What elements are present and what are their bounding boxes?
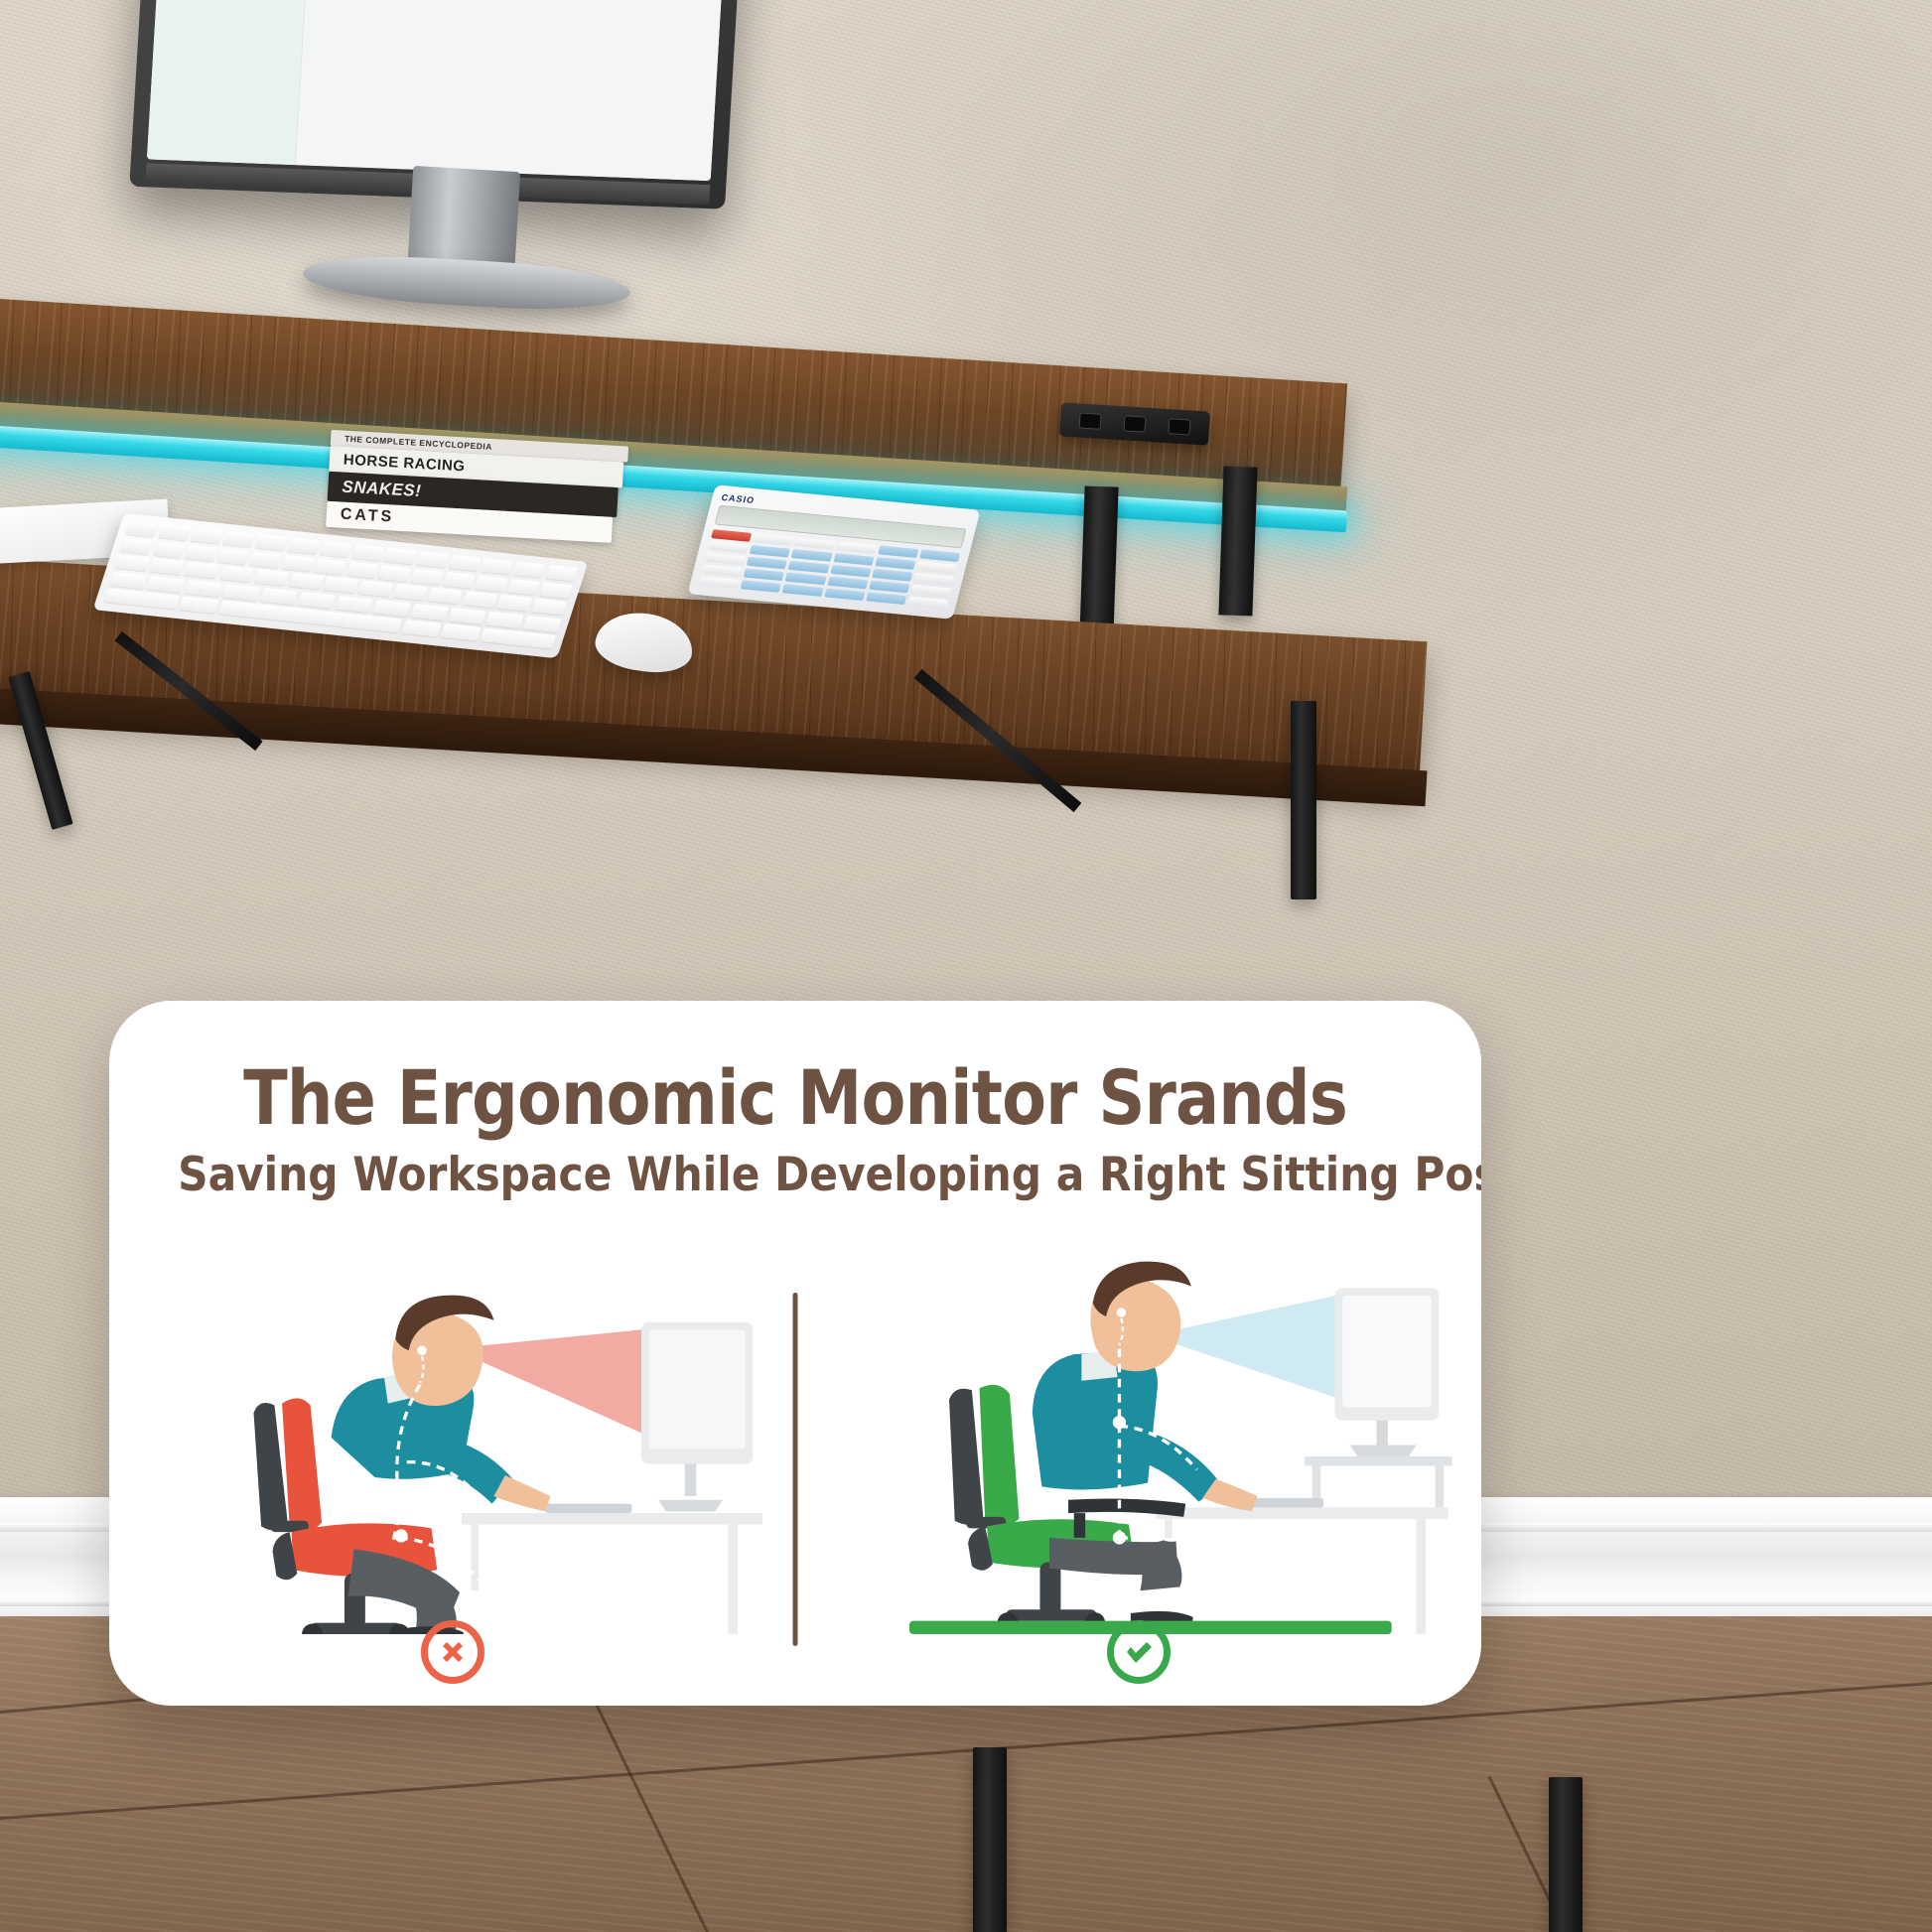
power-socket[interactable]	[1079, 413, 1102, 430]
book-title: HORSE RACING	[330, 450, 466, 475]
power-socket[interactable]	[1168, 418, 1190, 435]
info-card: The Ergonomic Monitor Srands Saving Work…	[109, 1001, 1481, 1706]
x-mark-icon	[436, 1635, 470, 1669]
monitor-stand-leg-far-right	[1218, 466, 1257, 616]
good-posture-panel	[795, 1237, 1481, 1706]
monitor: ● Community ? Help ⚙ Settings	[154, 0, 769, 258]
bad-posture-illustration	[109, 1237, 795, 1634]
good-posture-illustration	[795, 1237, 1481, 1634]
desk-leg-right	[1291, 701, 1316, 899]
product-marketing-image: THE COMPLETE ENCYCLOPEDIA HORSE RACING S…	[0, 0, 1932, 1932]
page-title: The Ergonomic Monitor Srands	[206, 1060, 1386, 1136]
power-socket[interactable]	[1124, 415, 1147, 432]
crypto-dashboard[interactable]: ● Community ? Help ⚙ Settings	[147, 0, 758, 181]
desk-leg-rear	[973, 1747, 1007, 1932]
comparison-panels	[109, 1237, 1481, 1706]
dashboard-right-panel[interactable]: Buy ETH Recent Transaction ••• ₳ Cardano…	[552, 0, 758, 181]
bad-posture-panel	[109, 1237, 795, 1706]
monitor-screen[interactable]: ● Community ? Help ⚙ Settings	[147, 0, 758, 181]
good-posture-badge	[1107, 1620, 1171, 1684]
monitor-stand-leg-right	[1079, 485, 1118, 637]
page-subtitle: Saving Workspace While Developing a Righ…	[178, 1152, 1413, 1198]
bad-posture-badge	[421, 1620, 484, 1684]
desk-leg-rear-2	[1549, 1777, 1583, 1932]
book-title: CATS	[326, 505, 394, 527]
book-title: SNAKES!	[328, 477, 422, 501]
check-mark-icon	[1121, 1634, 1157, 1670]
